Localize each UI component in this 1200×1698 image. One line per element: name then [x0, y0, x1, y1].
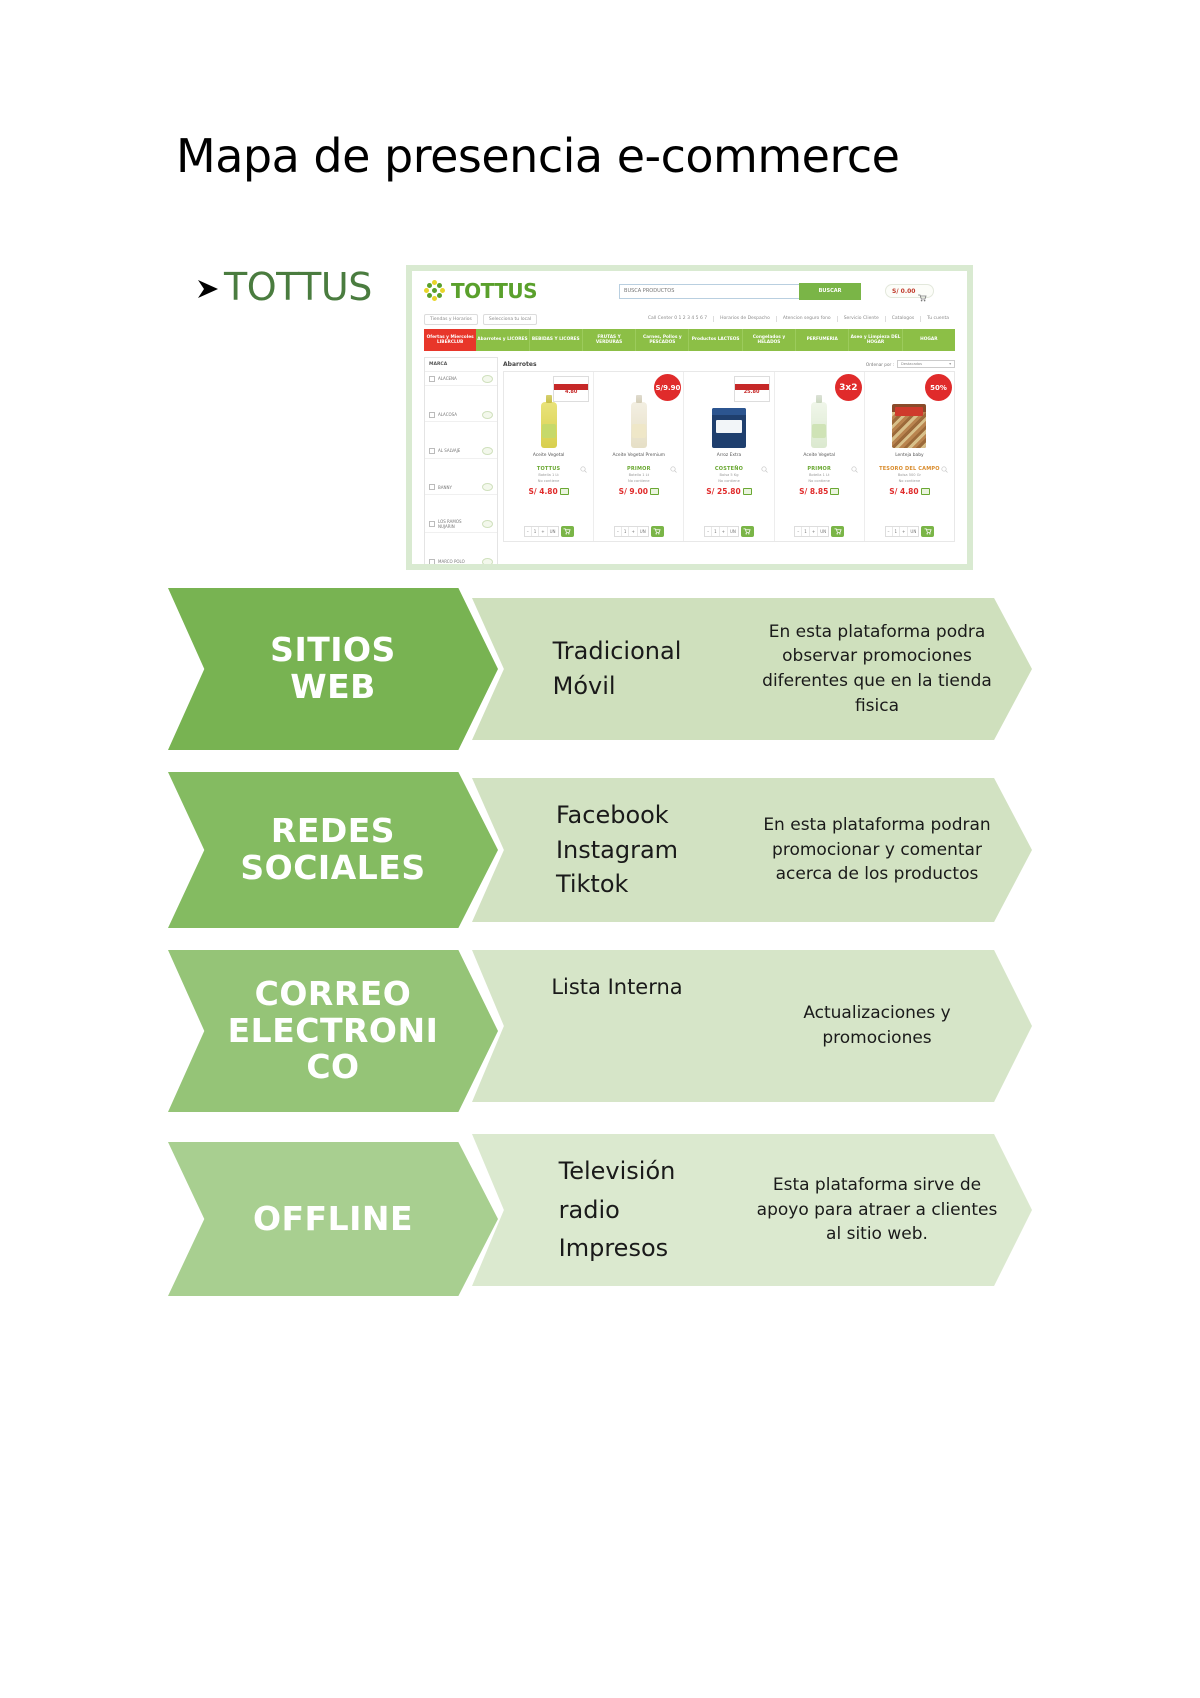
brand-filter-label: ALACENA: [438, 376, 457, 381]
decrement-button[interactable]: –: [705, 527, 712, 536]
flow-label-chevron[interactable]: SITIOSWEB: [168, 588, 498, 750]
product-brand: PRIMOR: [807, 466, 831, 472]
flow-label-text: SITIOSWEB: [248, 632, 418, 706]
flow-channels-chevron[interactable]: TradicionalMóvil: [472, 598, 762, 740]
unit-label: UN: [908, 527, 918, 536]
cart-amount: S/ 0.00: [892, 288, 915, 295]
product-action[interactable]: –1+UN: [865, 522, 954, 541]
product-name: Aceite Vegetal: [803, 453, 835, 463]
product-name: Arroz Extra: [717, 453, 741, 463]
listing-toolbar: Abarrotes Ordenar por : Destacados ▾: [503, 357, 955, 371]
quantity-stepper[interactable]: –1+UN: [794, 526, 829, 537]
channel-flow: SITIOSWEB TradicionalMóvil En esta plata…: [0, 588, 1200, 1318]
checkbox-icon[interactable]: [429, 448, 435, 454]
price-value: S/ 4.80: [889, 487, 918, 496]
product-meta-1: Bolsa 500 Gr: [898, 473, 921, 478]
promo-price-tag: 4.80: [553, 376, 589, 402]
listing-heading: Abarrotes: [503, 361, 537, 368]
flow-description-text: Esta plataforma sirve de apoyo para atra…: [716, 1173, 1032, 1247]
product-brand: TESORO DEL CAMPO: [879, 466, 940, 472]
decrement-button[interactable]: –: [795, 527, 802, 536]
brand-filter-label: AL SALVAJE: [438, 448, 460, 453]
brand-filter-row[interactable]: LOS RAMOS NUJARIN: [425, 517, 497, 533]
product-card[interactable]: S/9.90 Aceite Vegetal Premium PRIMOR Bot…: [594, 372, 684, 522]
flow-label-text: OFFLINE: [231, 1201, 435, 1238]
checkbox-icon[interactable]: [429, 559, 435, 565]
utility-link-callcenter[interactable]: Call Center 0 1 2 3 4 5 6 7: [642, 316, 714, 322]
nav-item-aseo[interactable]: Aseo y Limpieza DEL HOGAR: [849, 329, 902, 351]
product-card[interactable]: 4.80 Aceite Vegetal TOTTUS Botella 1 Lt …: [504, 372, 594, 522]
product-brand: TOTTUS: [537, 466, 560, 472]
site-logo-text: TOTTUS: [451, 279, 537, 303]
product-meta-1: Bolsa 5 Kg: [720, 473, 739, 478]
utility-link-catalogos[interactable]: Catalogos: [886, 316, 921, 322]
flow-channels-text: Lista Interna: [533, 972, 700, 1002]
utility-link-servicio[interactable]: Servicio Cliente: [838, 316, 886, 322]
flow-channels-text: TelevisiónradioImpresos: [541, 1152, 694, 1267]
count-badge: [482, 483, 493, 491]
flow-label-text: CORREOELECTRONICO: [206, 976, 461, 1087]
search-button[interactable]: BUSCAR: [799, 283, 861, 300]
product-price: S/ 9.00: [619, 487, 659, 496]
quantity-stepper[interactable]: –1+UN: [704, 526, 739, 537]
add-to-cart-button[interactable]: [741, 526, 754, 537]
quantity-value: 1: [622, 527, 630, 536]
product-image: [631, 384, 647, 448]
brand-filter-header: MARCA: [425, 358, 497, 372]
price-chip-icon: [743, 488, 752, 495]
flow-description-chevron[interactable]: En esta plataforma podra observar promoc…: [716, 598, 1032, 740]
utility-links: Call Center 0 1 2 3 4 5 6 7 Horarios de …: [642, 316, 955, 322]
count-badge: [482, 520, 493, 528]
decrement-button[interactable]: –: [886, 527, 893, 536]
checkbox-icon[interactable]: [429, 521, 435, 527]
add-to-cart-button[interactable]: [561, 526, 574, 537]
cart-widget[interactable]: S/ 0.00: [885, 284, 934, 298]
product-meta-2: No contiene: [628, 479, 650, 484]
promo-badge: 3x2: [835, 374, 862, 401]
flow-label-chevron[interactable]: CORREOELECTRONICO: [168, 950, 498, 1112]
quantity-stepper[interactable]: –1+UN: [885, 526, 920, 537]
count-badge: [482, 447, 493, 455]
flow-channels-chevron[interactable]: FacebookInstagramTiktok: [472, 778, 762, 922]
flow-label-chevron[interactable]: REDESSOCIALES: [168, 772, 498, 928]
unit-label: UN: [548, 527, 558, 536]
tottus-website-screenshot: TOTTUS BUSCAR S/ 0.00 Tiendas y Horarios…: [406, 265, 973, 570]
product-actions-row: –1+UN –1+UN –1+UN –1+UN: [503, 522, 955, 542]
chevron-down-icon: ▾: [949, 362, 951, 366]
nav-item-congelados[interactable]: Congelados y HELADOS: [743, 329, 796, 351]
product-meta-1: Botella 1 Lt: [629, 473, 649, 478]
brand-filter-label: MARCO POLO: [438, 559, 465, 564]
sort-control[interactable]: Ordenar por : Destacados ▾: [866, 360, 955, 368]
utility-link-atencion[interactable]: Atencion seguro fono: [777, 316, 838, 322]
flow-channels-chevron[interactable]: Lista Interna: [472, 950, 762, 1102]
utility-pill-stores[interactable]: Tiendas y Horarios: [424, 314, 478, 325]
search-input[interactable]: [619, 284, 799, 299]
flow-label-chevron[interactable]: OFFLINE: [168, 1142, 498, 1296]
price-chip-icon: [560, 488, 569, 495]
increment-button[interactable]: +: [720, 527, 728, 536]
price-value: S/ 25.80: [706, 487, 740, 496]
product-meta-1: Botella 1 Lt: [809, 473, 829, 478]
shopping-cart-icon: [918, 287, 927, 295]
brand-filter-row[interactable]: AL SALVAJE: [425, 444, 497, 458]
product-action[interactable]: –1+UN: [775, 522, 865, 541]
nav-item-ofertas[interactable]: Ofertas y Miercoles LIBERCLUB: [424, 329, 476, 351]
unit-label: UN: [818, 527, 828, 536]
product-card[interactable]: 25.80 Arroz Extra COSTEÑO Bolsa 5 Kg No …: [684, 372, 774, 522]
nav-item-bebidas[interactable]: BEBIDAS Y LICORES: [530, 329, 583, 351]
checkbox-icon[interactable]: [429, 412, 435, 418]
product-brand: PRIMOR: [627, 466, 651, 472]
quantity-value: 1: [532, 527, 540, 536]
product-action[interactable]: –1+UN: [684, 522, 774, 541]
price-value: S/ 4.80: [528, 487, 557, 496]
flow-description-chevron[interactable]: Actualizaciones y promociones: [716, 950, 1032, 1102]
increment-button[interactable]: +: [629, 527, 637, 536]
zoom-icon[interactable]: [580, 458, 587, 465]
product-meta-2: No contiene: [808, 479, 830, 484]
price-value: S/ 8.85: [799, 487, 828, 496]
brand-filter-row[interactable]: BANNY: [425, 481, 497, 495]
flow-channels-text: TradicionalMóvil: [535, 634, 700, 704]
promo-badge: 50%: [925, 374, 952, 401]
increment-button[interactable]: +: [539, 527, 547, 536]
brand-filter-label: LOS RAMOS NUJARIN: [438, 519, 479, 529]
flow-row-redes-sociales: REDESSOCIALES FacebookInstagramTiktok En…: [0, 772, 1200, 928]
product-card[interactable]: 3x2 Aceite Vegetal PRIMOR Botella 1 Lt N…: [775, 372, 865, 522]
checkbox-icon[interactable]: [429, 484, 435, 490]
zoom-icon[interactable]: [670, 458, 677, 465]
utility-pill-location[interactable]: Selecciona tu local: [483, 314, 537, 325]
zoom-icon[interactable]: [761, 458, 768, 465]
brand-filter-sidebar: MARCA ALACENA ALACOSA AL SALVAJE BANNY L…: [424, 357, 498, 570]
add-to-cart-button[interactable]: [921, 526, 934, 537]
nav-item-frutas[interactable]: FRUTAS Y VERDURAS: [583, 329, 636, 351]
brand-filter-row[interactable]: ALACOSA: [425, 408, 497, 422]
product-meta-1: Botella 1 Lt: [538, 473, 558, 478]
arrow-bullet-icon: [196, 274, 222, 304]
decrement-button[interactable]: –: [615, 527, 622, 536]
price-chip-icon: [830, 488, 839, 495]
product-meta-2: No contiene: [718, 479, 740, 484]
increment-button[interactable]: +: [810, 527, 818, 536]
brand-heading: TOTTUS: [196, 268, 372, 306]
product-name: Aceite Vegetal: [533, 453, 565, 463]
flow-label-text: REDESSOCIALES: [218, 813, 447, 887]
brand-filter-label: BANNY: [438, 485, 452, 490]
unit-label: UN: [638, 527, 648, 536]
count-badge: [482, 558, 493, 566]
decrement-button[interactable]: –: [525, 527, 532, 536]
promo-price-tag: 25.80: [734, 376, 770, 402]
product-meta-2: No contiene: [538, 479, 560, 484]
nav-item-abarrotes[interactable]: Abarrotes y LICORES: [476, 329, 529, 351]
quantity-value: 1: [802, 527, 810, 536]
poster-page: Mapa de presencia e-commerce TOTTUS: [0, 0, 1200, 1698]
flow-channels-text: FacebookInstagramTiktok: [538, 798, 696, 902]
utility-link-horarios[interactable]: Horarios de Despacho: [714, 316, 777, 322]
quantity-stepper[interactable]: –1+UN: [614, 526, 649, 537]
brand-filter-row[interactable]: ALACENA: [425, 372, 497, 386]
add-to-cart-button[interactable]: [651, 526, 664, 537]
sort-value: Destacados: [901, 362, 922, 366]
product-price: S/ 4.80: [889, 487, 929, 496]
nav-item-carnes[interactable]: Carnes, Pollos y PESCADOS: [636, 329, 689, 351]
product-price: S/ 4.80: [528, 487, 568, 496]
quantity-stepper[interactable]: –1+UN: [524, 526, 559, 537]
flow-description-text: En esta plataforma podra observar promoc…: [716, 620, 1032, 719]
increment-button[interactable]: +: [900, 527, 908, 536]
brand-filter-label: ALACOSA: [438, 412, 457, 417]
price-chip-icon: [921, 488, 930, 495]
product-meta-2: No contiene: [899, 479, 921, 484]
count-badge: [482, 411, 493, 419]
product-image: [811, 384, 827, 448]
product-brand: COSTEÑO: [715, 466, 743, 472]
checkbox-icon[interactable]: [429, 376, 435, 382]
product-image: [892, 384, 926, 448]
flow-row-offline: OFFLINE TelevisiónradioImpresos Esta pla…: [0, 1134, 1200, 1296]
product-name: Aceite Vegetal Premium: [613, 453, 666, 463]
product-action[interactable]: –1+UN: [504, 522, 594, 541]
flow-description-text: En esta plataforma podran promocionar y …: [716, 813, 1032, 887]
page-title: Mapa de presencia e-commerce: [176, 129, 899, 183]
flow-row-sitios-web: SITIOSWEB TradicionalMóvil En esta plata…: [0, 588, 1200, 750]
product-price: S/ 25.80: [706, 487, 751, 496]
flow-row-correo-electronico: CORREOELECTRONICO Lista Interna Actualiz…: [0, 950, 1200, 1112]
product-action[interactable]: –1+UN: [594, 522, 684, 541]
nav-item-lacteos[interactable]: Productos LACTEOS: [689, 329, 742, 351]
sort-select[interactable]: Destacados ▾: [897, 360, 955, 368]
flow-description-chevron[interactable]: En esta plataforma podran promocionar y …: [716, 778, 1032, 922]
tottus-flower-icon: [424, 280, 446, 302]
product-price: S/ 8.85: [799, 487, 839, 496]
unit-label: UN: [728, 527, 738, 536]
flow-description-chevron[interactable]: Esta plataforma sirve de apoyo para atra…: [716, 1134, 1032, 1286]
utility-link-cuenta[interactable]: Tu cuenta: [921, 316, 955, 322]
sort-label: Ordenar por :: [866, 362, 894, 367]
flow-description-text: Actualizaciones y promociones: [716, 1001, 1032, 1050]
product-grid: 4.80 Aceite Vegetal TOTTUS Botella 1 Lt …: [503, 371, 955, 522]
zoom-icon[interactable]: [851, 458, 858, 465]
nav-item-hogar[interactable]: HOGAR: [903, 329, 955, 351]
site-search[interactable]: BUSCAR: [619, 283, 861, 300]
add-to-cart-button[interactable]: [831, 526, 844, 537]
price-value: S/ 9.00: [619, 487, 648, 496]
site-header: TOTTUS BUSCAR S/ 0.00: [412, 271, 967, 311]
nav-item-perfumeria[interactable]: PERFUMERIA: [796, 329, 849, 351]
price-chip-icon: [650, 488, 659, 495]
flow-channels-chevron[interactable]: TelevisiónradioImpresos: [472, 1134, 762, 1286]
site-logo[interactable]: TOTTUS: [424, 279, 537, 303]
promo-badge: S/9.90: [654, 374, 681, 401]
quantity-value: 1: [893, 527, 901, 536]
brand-filter-row[interactable]: MARCO POLO: [425, 555, 497, 569]
brand-name: TOTTUS: [224, 268, 372, 306]
product-card[interactable]: 50% Lenteja baby TESORO DEL CAMPO Bolsa …: [865, 372, 954, 522]
product-name: Lenteja baby: [895, 453, 923, 463]
quantity-value: 1: [712, 527, 720, 536]
site-main-nav: Ofertas y Miercoles LIBERCLUB Abarrotes …: [424, 329, 955, 351]
zoom-icon[interactable]: [941, 458, 948, 465]
site-utility-bar: Tiendas y Horarios Selecciona tu local C…: [412, 311, 967, 327]
count-badge: [482, 375, 493, 383]
